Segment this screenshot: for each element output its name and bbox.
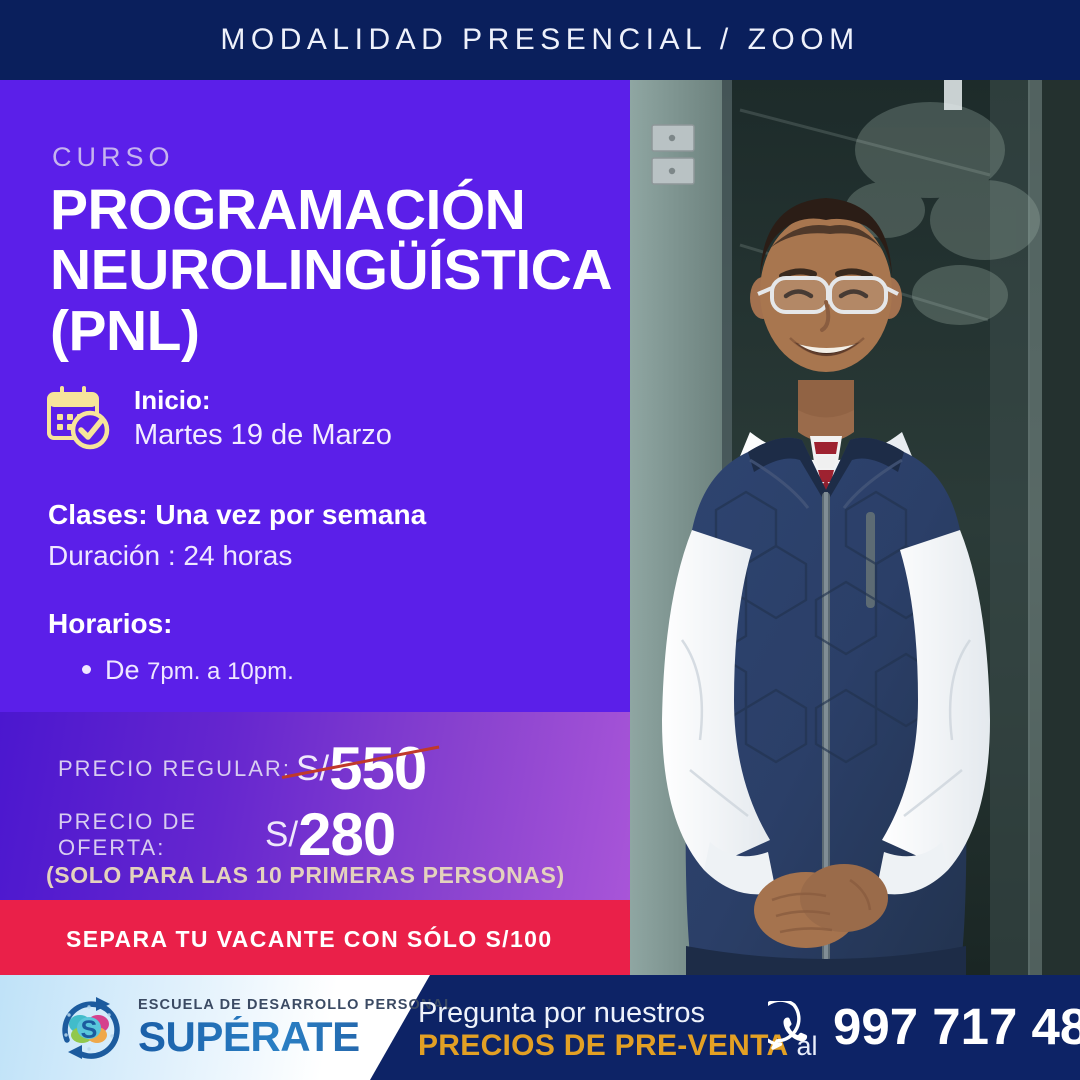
schedule-time: 7pm. a 10pm. xyxy=(147,658,294,685)
regular-price-label: PRECIO REGULAR: xyxy=(58,756,296,782)
pricing-band: PRECIO REGULAR: S/ 550 PRECIO DE OFERTA:… xyxy=(0,712,630,900)
regular-price-row: PRECIO REGULAR: S/ 550 xyxy=(58,734,426,803)
course-title-line-1: PROGRAMACIÓN xyxy=(50,180,630,240)
course-title-line-2: NEUROLINGÜÍSTICA xyxy=(50,240,630,300)
schedule-prefix: De xyxy=(105,655,140,685)
banner-text: MODALIDAD PRESENCIAL / ZOOM xyxy=(220,23,859,57)
schedule-item: De 7pm. a 10pm. xyxy=(82,655,608,686)
contact-promo-text: Pregunta por nuestros PRECIOS DE PRE-VEN… xyxy=(418,997,818,1063)
schedule-value: De 7pm. a 10pm. xyxy=(105,655,294,686)
course-details: Clases: Una vez por semana Duración : 24… xyxy=(48,495,608,686)
brand-name: SUPÉRATE xyxy=(138,1016,454,1058)
phone-number[interactable]: 997 717 484 xyxy=(833,997,1080,1056)
offer-price-amount: 280 xyxy=(298,800,395,869)
classes-frequency: Clases: Una vez por semana xyxy=(48,495,608,536)
brand-logo-text: ESCUELA DE DESARROLLO PERSONAL SUPÉRATE xyxy=(138,998,454,1058)
reservation-text: SEPARA TU VACANTE CON SÓLO S/100 xyxy=(66,926,553,953)
brand-logo: S ESCUELA DE DESARROLLO PERSONAL SUPÉRAT… xyxy=(52,991,454,1065)
superate-circular-arrow-logo-icon: S xyxy=(52,991,126,1065)
start-label: Inicio: xyxy=(134,384,392,417)
schedule-label: Horarios: xyxy=(48,604,608,645)
course-eyebrow: CURSO xyxy=(52,142,175,173)
whatsapp-icon[interactable] xyxy=(768,1001,820,1053)
course-title-line-3: (PNL) xyxy=(50,301,630,361)
footer-bar: S ESCUELA DE DESARROLLO PERSONAL SUPÉRAT… xyxy=(0,975,1080,1080)
offer-price-currency: S/ xyxy=(265,815,298,855)
start-date-block: Inicio: Martes 19 de Marzo xyxy=(44,384,392,454)
reservation-bar: SEPARA TU VACANTE CON SÓLO S/100 xyxy=(0,900,630,975)
start-date-value: Martes 19 de Marzo xyxy=(134,417,392,455)
top-banner: MODALIDAD PRESENCIAL / ZOOM xyxy=(0,0,1080,80)
offer-price-row: PRECIO DE OFERTA: S/ 280 xyxy=(58,800,395,869)
promo-line-2: PRECIOS DE PRE-VENTA al xyxy=(418,1029,818,1063)
offer-price-label: PRECIO DE OFERTA: xyxy=(58,809,265,861)
page-title: PROGRAMACIÓN NEUROLINGÜÍSTICA (PNL) xyxy=(50,180,630,361)
svg-text:S: S xyxy=(81,1016,98,1044)
calendar-check-icon xyxy=(44,384,112,452)
promo-highlight: PRECIOS DE PRE-VENTA xyxy=(418,1029,789,1063)
whatsapp-contact[interactable]: 997 717 484 xyxy=(768,997,1080,1056)
promo-line-1: Pregunta por nuestros xyxy=(418,997,818,1029)
instructor-photo xyxy=(630,80,1080,975)
regular-price-amount: 550 xyxy=(329,734,426,803)
offer-limit-note: (SOLO PARA LAS 10 PRIMERAS PERSONAS) xyxy=(46,862,565,889)
flyer-canvas: MODALIDAD PRESENCIAL / ZOOM xyxy=(0,0,1080,1080)
start-date-text: Inicio: Martes 19 de Marzo xyxy=(134,384,392,454)
brand-tagline: ESCUELA DE DESARROLLO PERSONAL xyxy=(138,998,454,1013)
course-info-panel: CURSO PROGRAMACIÓN NEUROLINGÜÍSTICA (PNL… xyxy=(0,80,630,712)
bullet-icon xyxy=(82,665,91,674)
course-duration: Duración : 24 horas xyxy=(48,536,608,577)
